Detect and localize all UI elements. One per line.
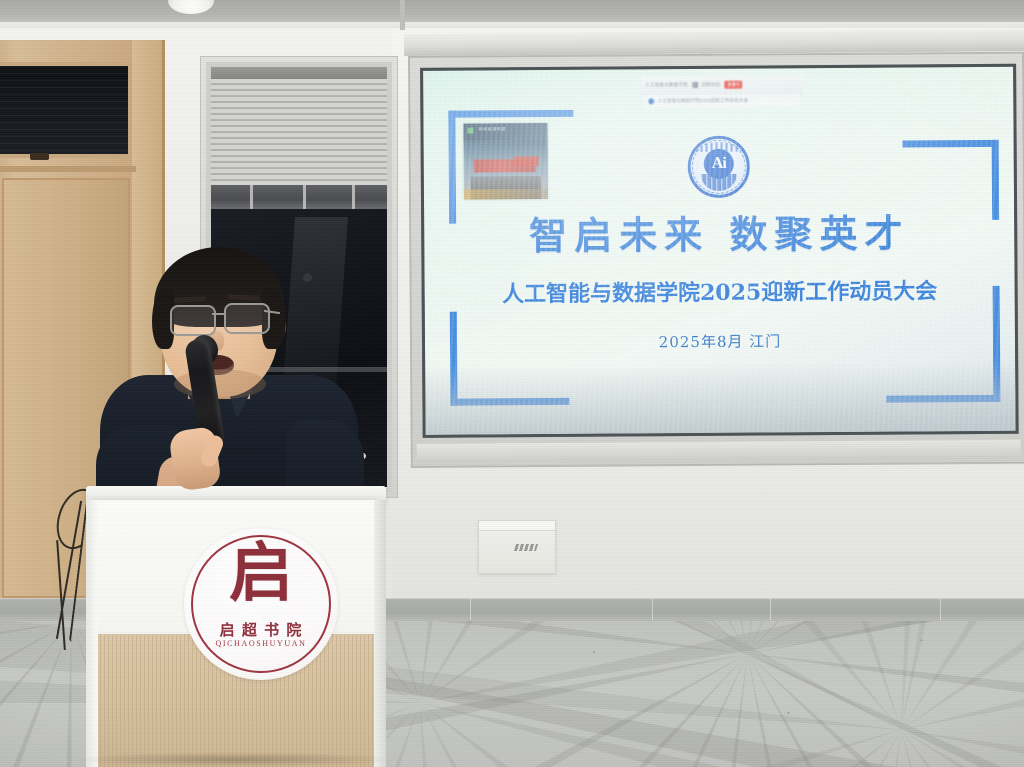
thumbnail-banner-2 — [514, 156, 539, 166]
emblem-seal-glyph: 启 — [229, 542, 293, 606]
emblem-name-text: 启 超 书 院 — [184, 619, 338, 640]
event-photo-thumbnail: 新闻报道标题 — [464, 123, 548, 200]
door-handle — [30, 153, 49, 160]
projection-surface: 人工智能与数据学院 迎新动员 直播中 人工智能与数据学院2025迎新工作动员大会 — [420, 64, 1019, 438]
baseboard-seam — [652, 598, 653, 620]
qichao-academy-emblem: 启 启 超 书 院 QICHAOSHUYUAN — [184, 528, 338, 680]
podium-right-edge — [374, 500, 386, 767]
door-transom-window — [0, 62, 132, 158]
browser-toolbar[interactable]: 人工智能与数据学院 迎新动员 直播中 — [641, 76, 803, 96]
presenter-chin-shadow — [174, 369, 266, 399]
slide-subtitle: 人工智能与数据学院2025迎新工作动员大会 — [425, 272, 1015, 308]
blind-headrail — [211, 67, 387, 79]
baseboard-seam — [470, 598, 471, 620]
blind-cord — [250, 185, 253, 209]
transom-slats — [0, 66, 128, 154]
photo-scene: 人工智能与数据学院 迎新动员 直播中 人工智能与数据学院2025迎新工作动员大会 — [0, 0, 1024, 767]
presentation-slide: 人工智能与数据学院 迎新动员 直播中 人工智能与数据学院2025迎新工作动员大会 — [423, 67, 1016, 435]
slide-date-location: 2025年8月 江门 — [425, 329, 1015, 354]
slide-bottom-fade — [425, 361, 1015, 435]
projection-screen: 人工智能与数据学院 迎新动员 直播中 人工智能与数据学院2025迎新工作动员大会 — [408, 52, 1024, 468]
podium-shadow — [70, 752, 400, 767]
browser-address-bar[interactable]: 人工智能与数据学院2025迎新工作动员大会 — [645, 94, 801, 108]
browser-icon — [692, 82, 698, 88]
baseboard-seam — [770, 598, 771, 620]
glasses-lens-right — [224, 303, 270, 334]
slide-title: 智启未来 数聚英才 — [424, 201, 1014, 260]
glasses-lens-left — [170, 305, 216, 336]
wall-electrical-panel — [478, 520, 556, 574]
site-favicon-icon — [649, 98, 655, 104]
podium-left-edge — [86, 500, 98, 767]
live-badge: 直播中 — [725, 81, 743, 89]
ai-college-emblem-icon: Ai — [688, 136, 750, 198]
screen-bottom-rail — [417, 440, 1021, 460]
thumbnail-header-text: 新闻报道标题 — [479, 126, 506, 132]
thumbnail-badge-icon — [468, 127, 474, 133]
blind-cord — [303, 185, 306, 209]
panel-lid — [479, 521, 555, 531]
blind-bottomrail — [211, 185, 387, 209]
podium: 启 启 超 书 院 QICHAOSHUYUAN — [86, 486, 386, 767]
ceiling-fixture — [400, 0, 405, 30]
glasses-bridge — [212, 313, 224, 315]
emblem-pinyin-text: QICHAOSHUYUAN — [184, 639, 338, 648]
browser-bar-text: 人工智能与数据学院 — [645, 82, 687, 88]
browser-address-text: 人工智能与数据学院2025迎新工作动员大会 — [658, 97, 749, 104]
blind-cord — [352, 185, 355, 209]
emblem-core-text: Ai — [704, 148, 734, 178]
blind-slats — [211, 79, 387, 185]
door-rail — [0, 166, 136, 172]
browser-tab-text: 迎新动员 — [702, 82, 721, 88]
baseboard-seam — [940, 598, 941, 620]
thumbnail-footer — [464, 189, 548, 200]
panel-label-icon — [514, 544, 538, 551]
